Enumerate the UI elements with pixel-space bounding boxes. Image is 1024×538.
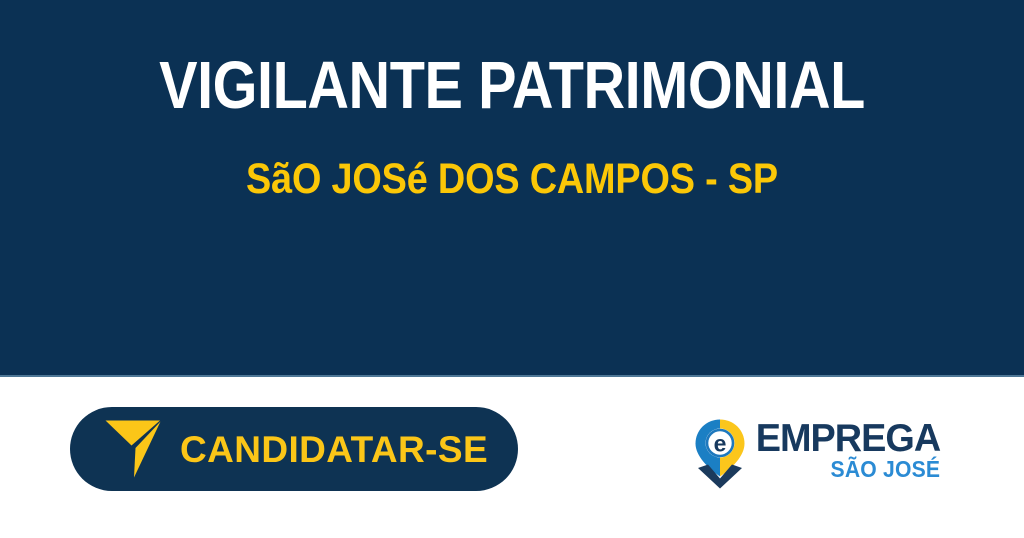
job-location-subtitle: SãO JOSé DOS CAMPOS - SP	[61, 158, 962, 201]
brand-name: EMPREGA	[756, 421, 940, 457]
brand-wordmark: EMPREGA SÃO JOSÉ	[750, 421, 940, 481]
brand-logo: e EMPREGA SÃO JOSÉ	[694, 418, 926, 494]
apply-button[interactable]: CANDIDATAR-SE	[70, 407, 518, 491]
apply-button-label: CANDIDATAR-SE	[180, 431, 488, 468]
map-pin-e-icon: e	[694, 418, 746, 490]
job-posting-card: VIGILANTE PATRIMONIAL SãO JOSé DOS CAMPO…	[0, 0, 1024, 538]
brand-subname: SÃO JOSÉ	[831, 458, 941, 481]
svg-text:e: e	[714, 431, 727, 457]
hero-banner: VIGILANTE PATRIMONIAL SãO JOSé DOS CAMPO…	[0, 0, 1024, 377]
paper-plane-icon	[104, 418, 162, 480]
page-title: VIGILANTE PATRIMONIAL	[72, 52, 953, 119]
